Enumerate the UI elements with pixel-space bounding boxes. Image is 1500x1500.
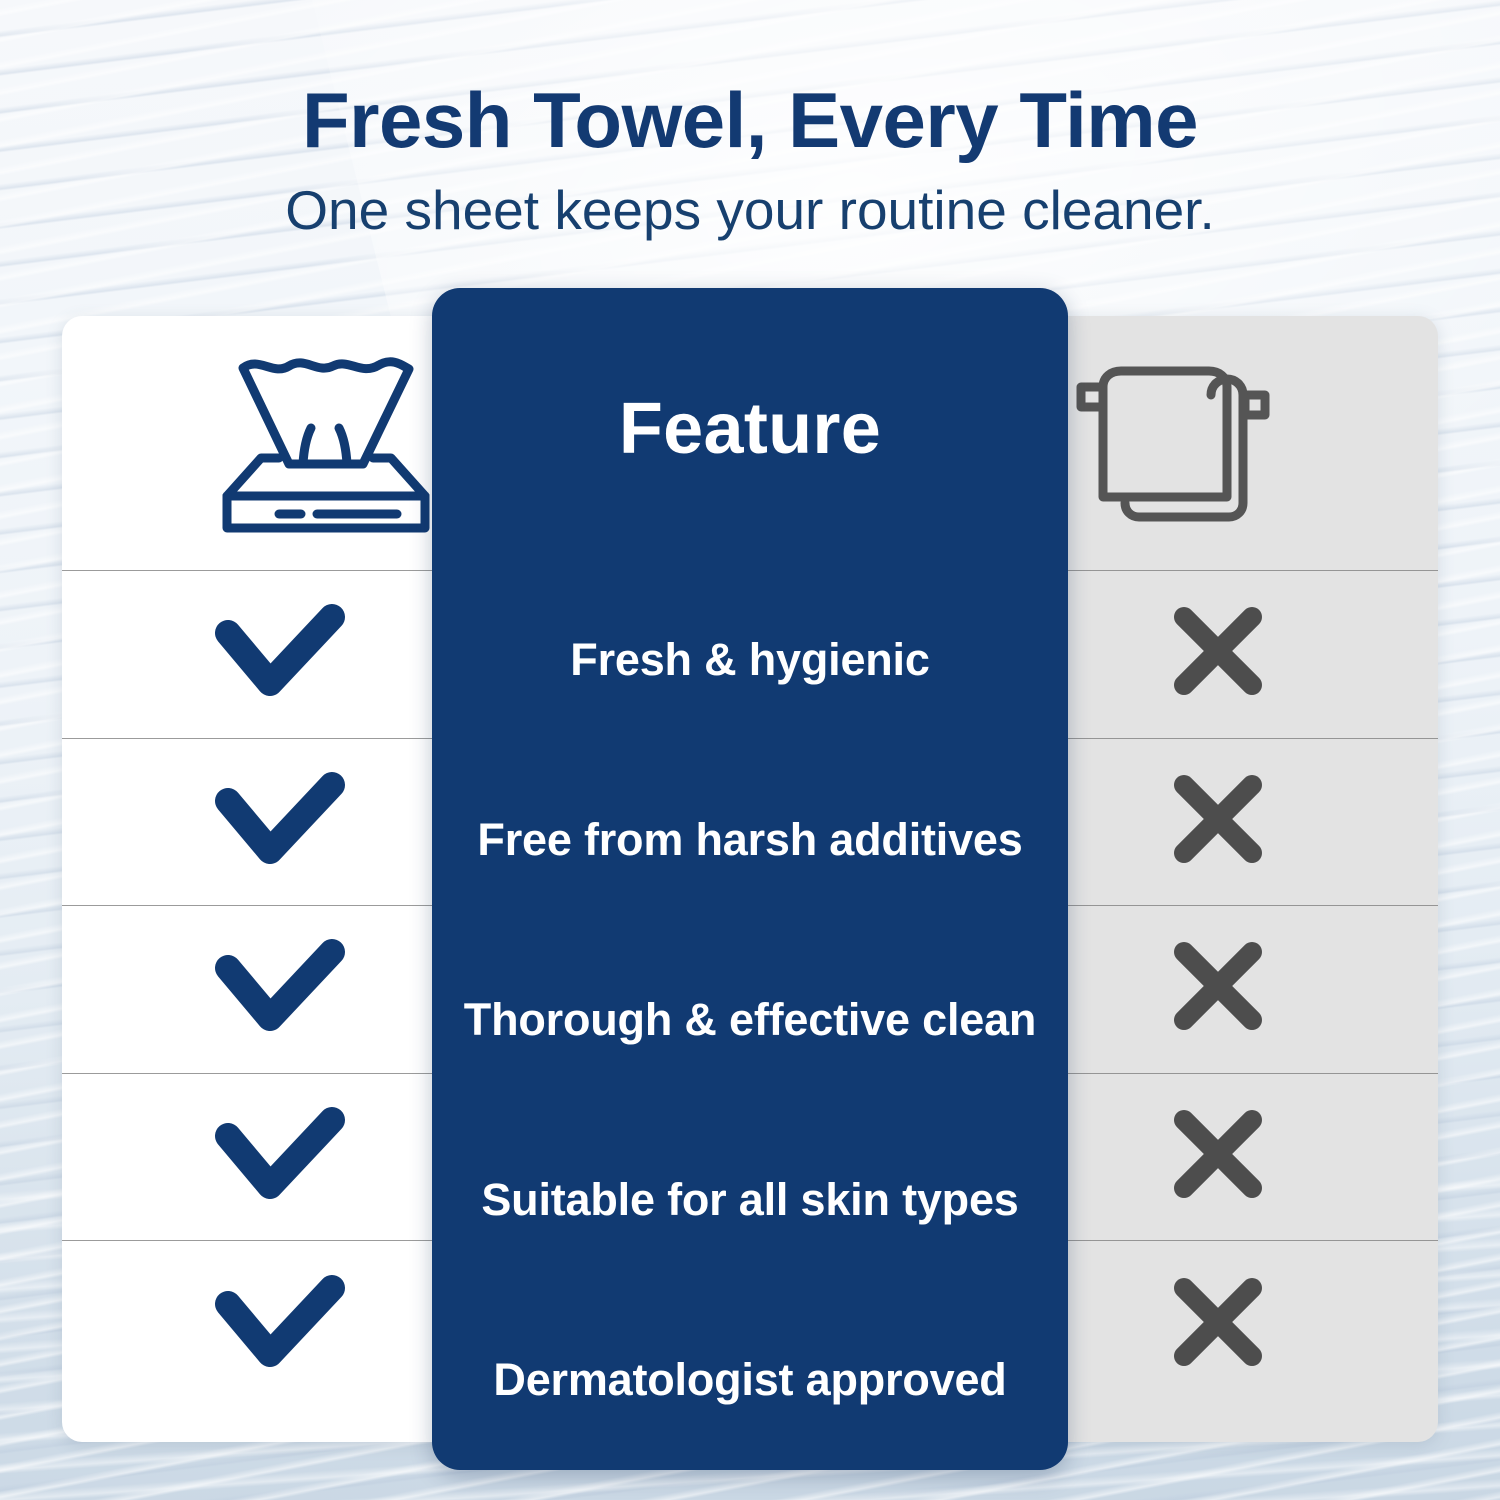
feature-column-panel: Feature Fresh & hygienic Free from harsh…: [432, 288, 1068, 1470]
check-icon: [210, 767, 350, 876]
check-icon: [210, 1102, 350, 1211]
feature-label: Fresh & hygienic: [570, 635, 929, 685]
feature-row: Dermatologist approved: [432, 1290, 1068, 1470]
hanging-towel-icon: [1067, 351, 1281, 536]
cross-icon: [1166, 599, 1270, 708]
cross-icon: [1166, 1270, 1270, 1379]
feature-row: Suitable for all skin types: [432, 1110, 1068, 1290]
feature-column-header: Feature: [432, 288, 1068, 570]
tissue-box-icon: [201, 346, 451, 541]
comparison-infographic: Fresh Towel, Every Time One sheet keeps …: [0, 0, 1500, 1500]
check-icon: [210, 1270, 350, 1379]
feature-label: Free from harsh additives: [477, 815, 1022, 865]
feature-header-label: Feature: [619, 388, 881, 470]
feature-label: Dermatologist approved: [493, 1355, 1006, 1405]
feature-row: Free from harsh additives: [432, 750, 1068, 930]
page-subtitle: One sheet keeps your routine cleaner.: [0, 180, 1500, 242]
heading-block: Fresh Towel, Every Time One sheet keeps …: [0, 78, 1500, 242]
check-icon: [210, 934, 350, 1043]
feature-label: Suitable for all skin types: [481, 1175, 1018, 1225]
page-title: Fresh Towel, Every Time: [0, 78, 1500, 162]
cross-icon: [1166, 1102, 1270, 1211]
check-icon: [210, 599, 350, 708]
feature-row: Fresh & hygienic: [432, 570, 1068, 750]
cross-icon: [1166, 934, 1270, 1043]
cross-icon: [1166, 767, 1270, 876]
feature-row: Thorough & effective clean: [432, 930, 1068, 1110]
feature-row-list: Fresh & hygienic Free from harsh additiv…: [432, 570, 1068, 1470]
feature-label: Thorough & effective clean: [464, 995, 1036, 1045]
